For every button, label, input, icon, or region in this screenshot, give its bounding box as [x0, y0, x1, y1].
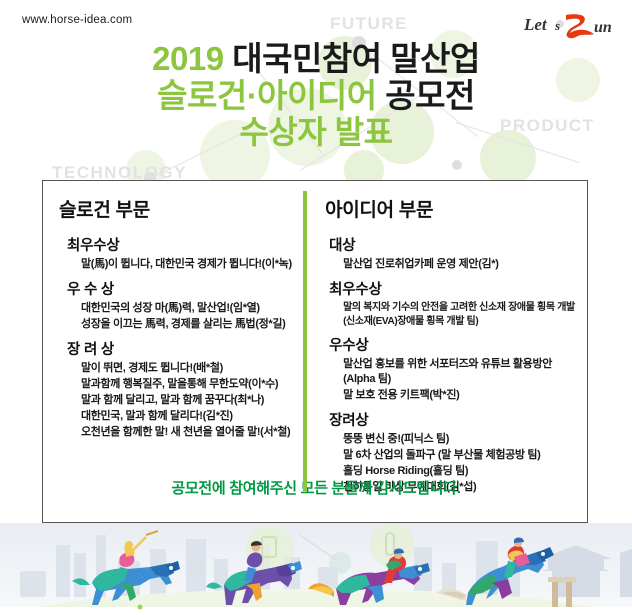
award-group: 대상 말산업 진로취업카페 운영 제안(김*) — [315, 234, 579, 272]
letsrun-logo: Let s un — [520, 8, 616, 42]
award-entry: 말산업 홍보를 위한 서포터즈와 유튜브 활용방안(Alpha 팀) — [315, 357, 579, 387]
award-entry: 말 6차 산업의 돌파구 (말 부산물 체험공방 팀) — [315, 448, 579, 463]
title-line-2: 슬로건·아이디어 공모전 — [0, 77, 632, 114]
equestrian-riders-illustration — [0, 523, 632, 615]
award-entry: 말의 복지와 기수의 안전을 고려한 신소재 장애물 횡목 개발 — [315, 301, 579, 314]
poster-root: FUTURE PRODUCT TECHNOLOGY www.horse-idea… — [0, 0, 632, 615]
svg-text:s: s — [554, 18, 560, 33]
award-group: 최우수상 말(馬)이 뜁니다, 대한민국 경제가 뜁니다!(이*녹) — [59, 234, 295, 272]
award-title: 장 려 상 — [59, 338, 295, 359]
deco-dot — [452, 160, 462, 170]
award-entry: 대한민국의 성장 마(馬)력, 말산업!(임*열) — [59, 301, 295, 316]
idea-section-title: 아이디어 부문 — [325, 195, 579, 222]
title-year: 2019 — [152, 40, 223, 77]
column-divider — [303, 191, 307, 491]
award-title: 우 수 상 — [59, 278, 295, 299]
award-group: 우수상 말산업 홍보를 위한 서포터즈와 유튜브 활용방안(Alpha 팀) 말… — [315, 334, 579, 403]
award-entry: 대한민국, 말과 함께 달리다!(김*진) — [59, 409, 295, 424]
title-line-1: 2019 대국민참여 말산업 — [0, 40, 632, 77]
award-title: 장려상 — [315, 409, 579, 430]
award-group: 최우수상 말의 복지와 기수의 안전을 고려한 신소재 장애물 횡목 개발 (신… — [315, 278, 579, 328]
svg-text:un: un — [594, 19, 612, 36]
title-line-2-green: 슬로건·아이디어 — [157, 77, 377, 114]
website-url: www.horse-idea.com — [22, 14, 132, 26]
award-entry: 뚱뚱 변신 중!(피닉스 팀) — [315, 432, 579, 447]
award-entry: 말이 뛰면, 경제도 뜁니다!(배*철) — [59, 361, 295, 376]
title-line-1-text: 대국민참여 말산업 — [232, 40, 480, 77]
award-group: 우 수 상 대한민국의 성장 마(馬)력, 말산업!(임*열) 성장을 이끄는 … — [59, 278, 295, 332]
award-entry: 말(馬)이 뜁니다, 대한민국 경제가 뜁니다!(이*녹) — [59, 257, 295, 272]
slogan-column: 슬로건 부문 최우수상 말(馬)이 뜁니다, 대한민국 경제가 뜁니다!(이*녹… — [43, 181, 301, 522]
title-line-2-text: 공모전 — [385, 77, 475, 114]
slogan-section-title: 슬로건 부문 — [59, 195, 295, 222]
award-title: 우수상 — [315, 334, 579, 355]
award-title: 대상 — [315, 234, 579, 255]
award-entry: 말 보호 전용 키트팩(박*진) — [315, 388, 579, 403]
award-entry: 말산업 진로취업카페 운영 제안(김*) — [315, 257, 579, 272]
award-title: 최우수상 — [59, 234, 295, 255]
award-entry: (신소재(EVA)장애물 횡목 개발 팀) — [315, 315, 579, 328]
award-entry: 말과 함께 달리고, 말과 함께 꿈꾸다(최*나) — [59, 393, 295, 408]
thank-you-message: 공모전에 참여해주신 모든 분들께 감사드립니다. — [43, 477, 589, 498]
poster-title-block: 2019 대국민참여 말산업 슬로건·아이디어 공모전 수상자 발표 — [0, 40, 632, 151]
award-entry: 말과함께 행복질주, 말을통해 무한도약(이*수) — [59, 377, 295, 392]
winners-panel: 슬로건 부문 최우수상 말(馬)이 뜁니다, 대한민국 경제가 뜁니다!(이*녹… — [42, 180, 588, 523]
svg-text:Let: Let — [523, 15, 548, 34]
award-entry: 성장을 이끄는 馬력, 경제를 살리는 馬법(정*길) — [59, 317, 295, 332]
idea-column: 아이디어 부문 대상 말산업 진로취업카페 운영 제안(김*) 최우수상 말의 … — [301, 181, 587, 522]
title-line-3: 수상자 발표 — [0, 114, 632, 151]
award-group: 장 려 상 말이 뛰면, 경제도 뜁니다!(배*철) 말과함께 행복질주, 말을… — [59, 338, 295, 440]
award-title: 최우수상 — [315, 278, 579, 299]
watermark-future: FUTURE — [330, 14, 408, 34]
title-line-3-text: 수상자 발표 — [239, 114, 392, 150]
award-entry: 오천년을 함께한 말! 새 천년을 열어줄 말!(서*철) — [59, 425, 295, 440]
